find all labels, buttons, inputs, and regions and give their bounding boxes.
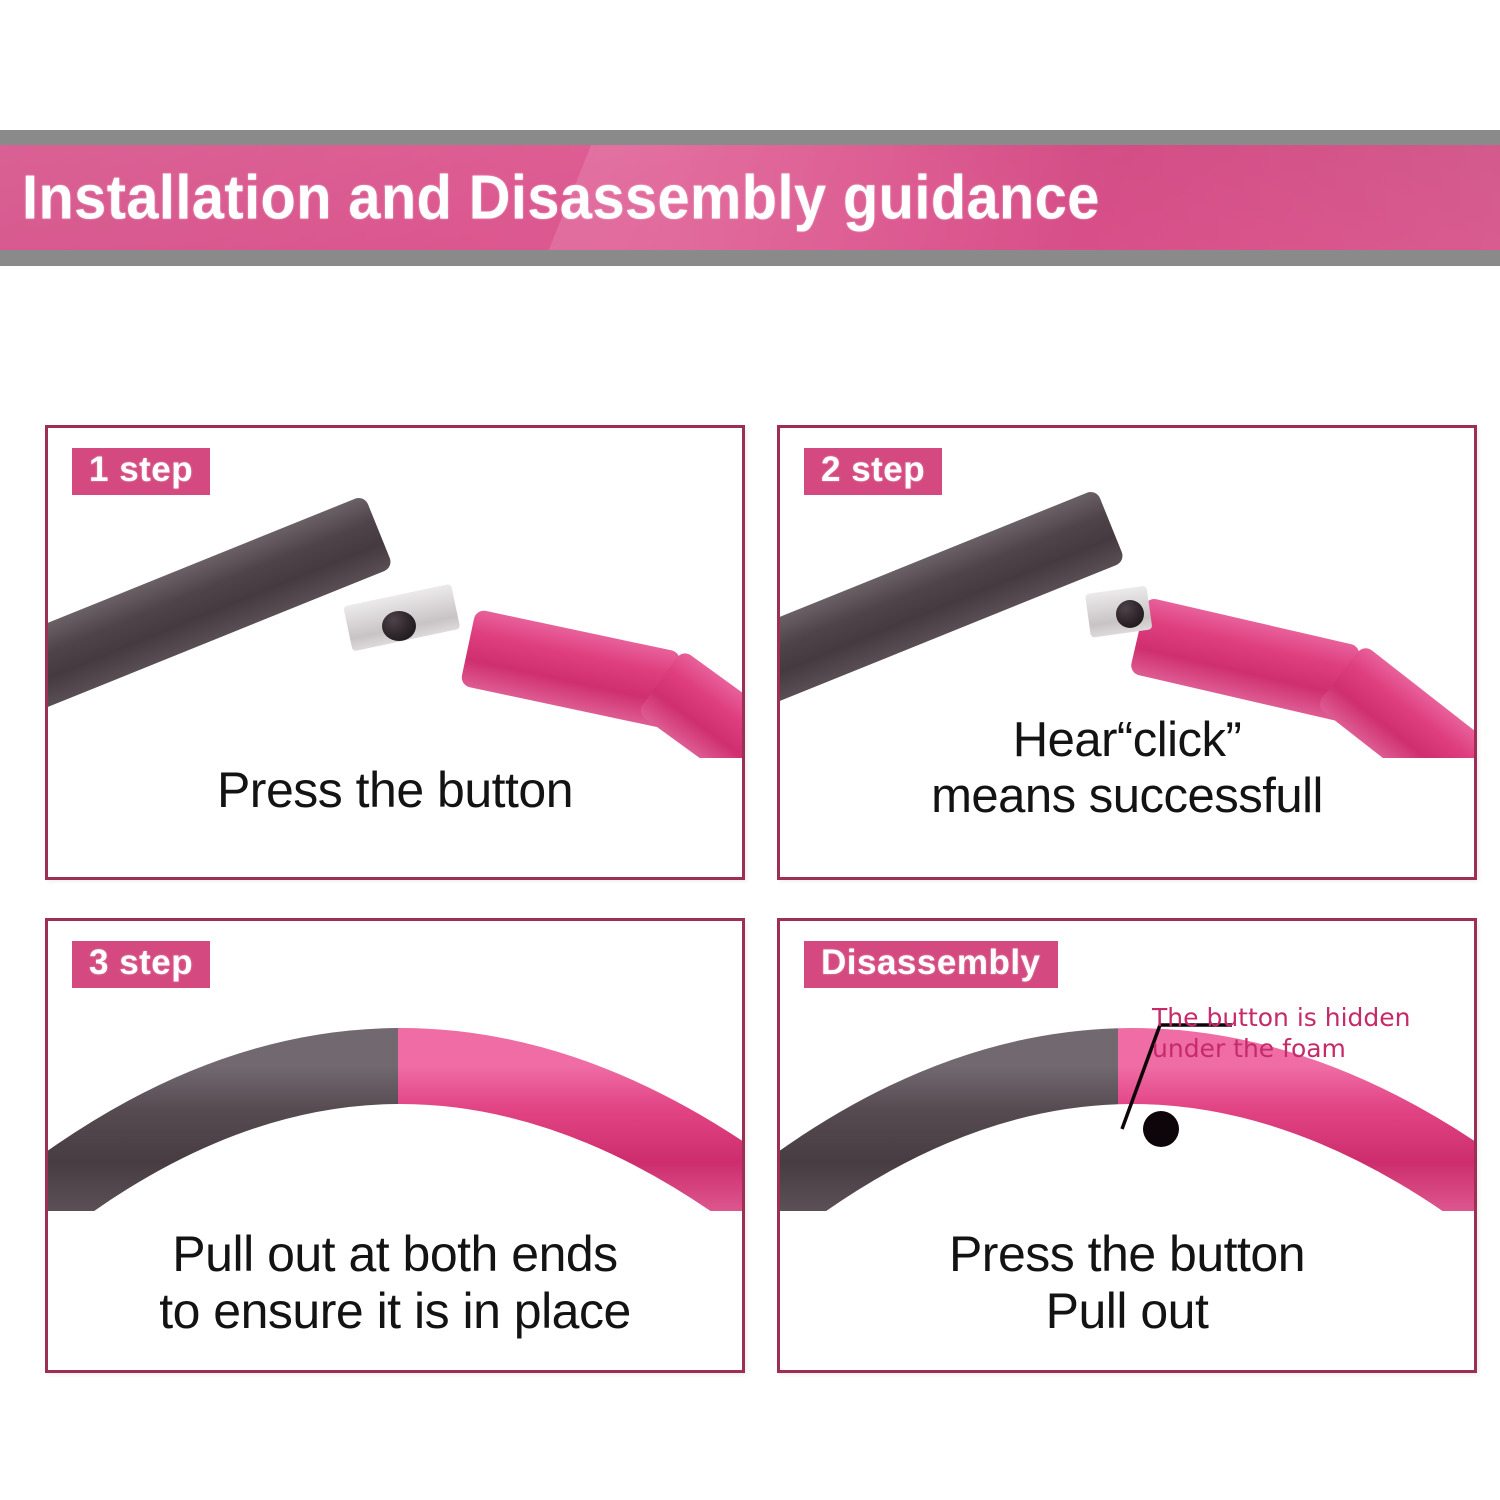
step-panel-2: 2 step Hear“click” means successfull	[777, 425, 1477, 880]
gray-foam-tube	[780, 489, 1125, 711]
header-band: Installation and Disassembly guidance	[0, 130, 1500, 266]
hidden-button-dot	[1143, 1111, 1179, 1147]
step-caption-4-line-2: Pull out	[780, 1283, 1474, 1340]
step-panel-3: 3 step	[45, 918, 745, 1373]
step-caption-3: Pull out at both ends to ensure it is in…	[48, 1226, 742, 1340]
step-caption-2: Hear“click” means successfull	[780, 713, 1474, 825]
step-panel-1: 1 step Press the button	[45, 425, 745, 880]
step-caption-3-line-1: Pull out at both ends	[48, 1226, 742, 1283]
release-button	[1116, 600, 1144, 628]
step-caption-3-line-2: to ensure it is in place	[48, 1283, 742, 1340]
step-caption-2-line-1: Hear“click”	[780, 713, 1474, 769]
step-caption-1: Press the button	[48, 762, 742, 819]
step-badge-4: Disassembly	[804, 941, 1058, 988]
step-badge-1: 1 step	[72, 448, 210, 495]
step-caption-2-line-2: means successfull	[780, 769, 1474, 825]
hidden-button-annotation: The button is hidden under the foam	[1152, 1003, 1452, 1064]
step-panel-4: Disassembly The button is hidden under t…	[777, 918, 1477, 1373]
hidden-button-annotation-line-2: under the foam	[1152, 1034, 1452, 1065]
release-button	[382, 611, 416, 641]
steps-grid: 1 step Press the button 2 step Hear“clic…	[45, 425, 1457, 1373]
hidden-button-annotation-line-1: The button is hidden	[1152, 1003, 1452, 1034]
step-caption-4-line-1: Press the button	[780, 1226, 1474, 1283]
step-caption-4: Press the button Pull out	[780, 1226, 1474, 1340]
page-title: Installation and Disassembly guidance	[22, 162, 1100, 233]
step-badge-2: 2 step	[804, 448, 942, 495]
gray-foam-tube	[48, 495, 393, 717]
step-badge-3: 3 step	[72, 941, 210, 988]
header-pink-banner: Installation and Disassembly guidance	[0, 145, 1500, 250]
